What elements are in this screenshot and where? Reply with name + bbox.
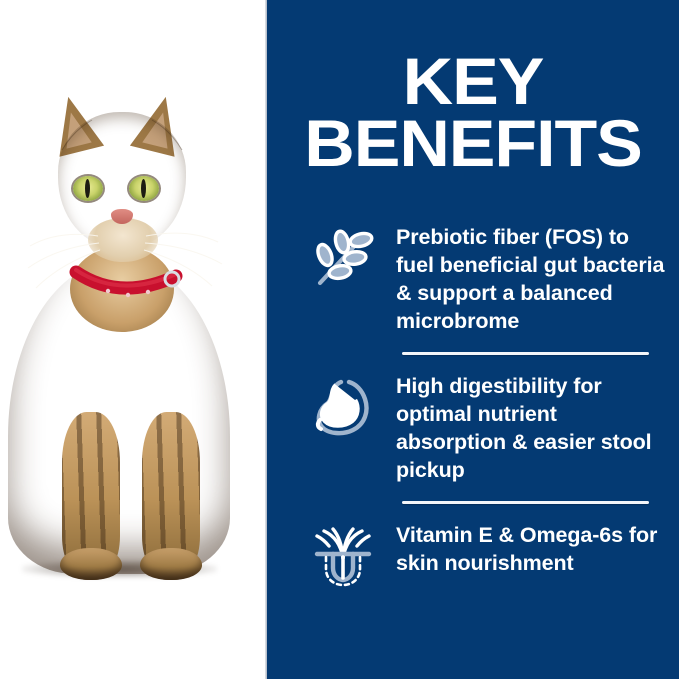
benefit-item-high-digestibility: High digestibility for optimal nutrient … <box>267 371 679 484</box>
cat-photo <box>0 0 267 679</box>
page-title: KEY BENEFITS <box>255 50 679 174</box>
key-benefits-product-card: KEY BENEFITS <box>0 0 679 679</box>
product-photo-panel <box>0 0 267 679</box>
cat-chest <box>54 300 182 550</box>
benefit-item-prebiotic-fiber: Prebiotic fiber (FOS) to fuel beneficial… <box>267 222 679 335</box>
benefits-panel: KEY BENEFITS <box>267 0 679 679</box>
benefit-text-high-digestibility: High digestibility for optimal nutrient … <box>375 371 665 484</box>
benefits-list: Prebiotic fiber (FOS) to fuel beneficial… <box>267 222 679 588</box>
benefit-text-skin-nourishment: Vitamin E & Omega-6s for skin nourishmen… <box>375 520 665 577</box>
wheat-sprig-icon <box>311 226 375 290</box>
benefit-divider-1 <box>402 352 649 355</box>
title-line-2: BENEFITS <box>255 112 679 174</box>
cat-paw-left <box>60 548 122 580</box>
hair-follicle-icon <box>311 524 375 588</box>
benefit-item-skin-nourishment: Vitamin E & Omega-6s for skin nourishmen… <box>267 520 679 588</box>
stomach-icon <box>311 375 375 439</box>
cat-muzzle <box>88 218 158 262</box>
cat-pupil-left <box>85 179 90 198</box>
benefit-divider-2 <box>402 501 649 504</box>
cat-pupil-right <box>141 179 146 198</box>
benefit-text-prebiotic-fiber: Prebiotic fiber (FOS) to fuel beneficial… <box>375 222 665 335</box>
cat-paw-right <box>140 548 202 580</box>
